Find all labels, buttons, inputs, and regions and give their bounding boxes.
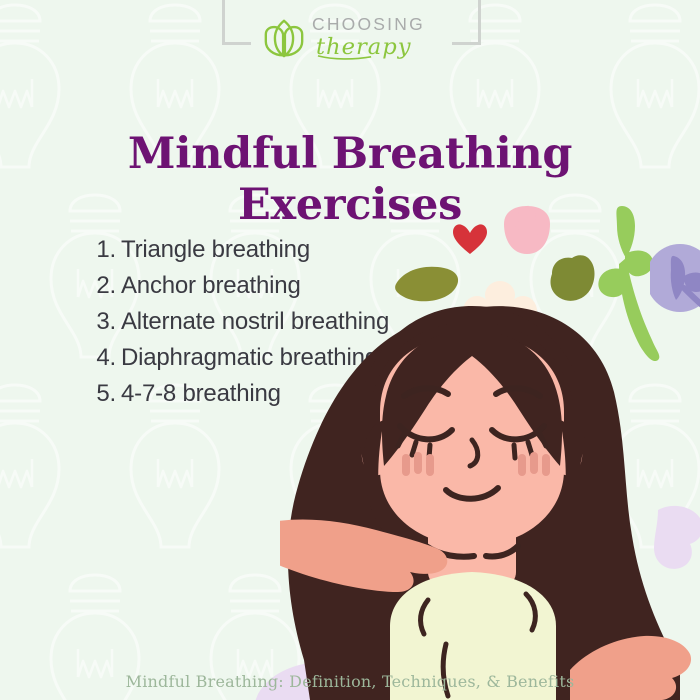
list-item-number: 4. (88, 340, 116, 376)
poster-canvas: CHOOSING therapy Mindful Breathing Exerc… (0, 0, 700, 700)
bracket-left-decoration (222, 0, 251, 45)
woman-meditating-illustration (280, 300, 700, 700)
list-item-label: Triangle breathing (121, 232, 310, 268)
footer-caption: Mindful Breathing: Definition, Technique… (0, 672, 700, 691)
list-item-number: 1. (88, 232, 116, 268)
list-item: 1. Triangle breathing (88, 232, 508, 268)
page-title-line-2: Exercises (0, 180, 700, 231)
page-title-line-1: Mindful Breathing (0, 129, 700, 180)
svg-text:therapy: therapy (316, 34, 412, 60)
list-item-number: 5. (88, 376, 116, 412)
bracket-right-decoration (452, 0, 481, 45)
list-item-number: 2. (88, 268, 116, 304)
lotus-leaf-logo-icon (262, 18, 306, 58)
list-item-number: 3. (88, 304, 116, 340)
brand-name-bottom-script: therapy (314, 29, 442, 61)
page-title: Mindful Breathing Exercises (0, 129, 700, 230)
brand-logo[interactable]: CHOOSING therapy (262, 12, 442, 64)
list-item-label: Anchor breathing (121, 268, 301, 304)
list-item-label: 4-7-8 breathing (121, 376, 281, 412)
list-item: 2. Anchor breathing (88, 268, 508, 304)
brand-logo-text: CHOOSING therapy (312, 12, 442, 62)
